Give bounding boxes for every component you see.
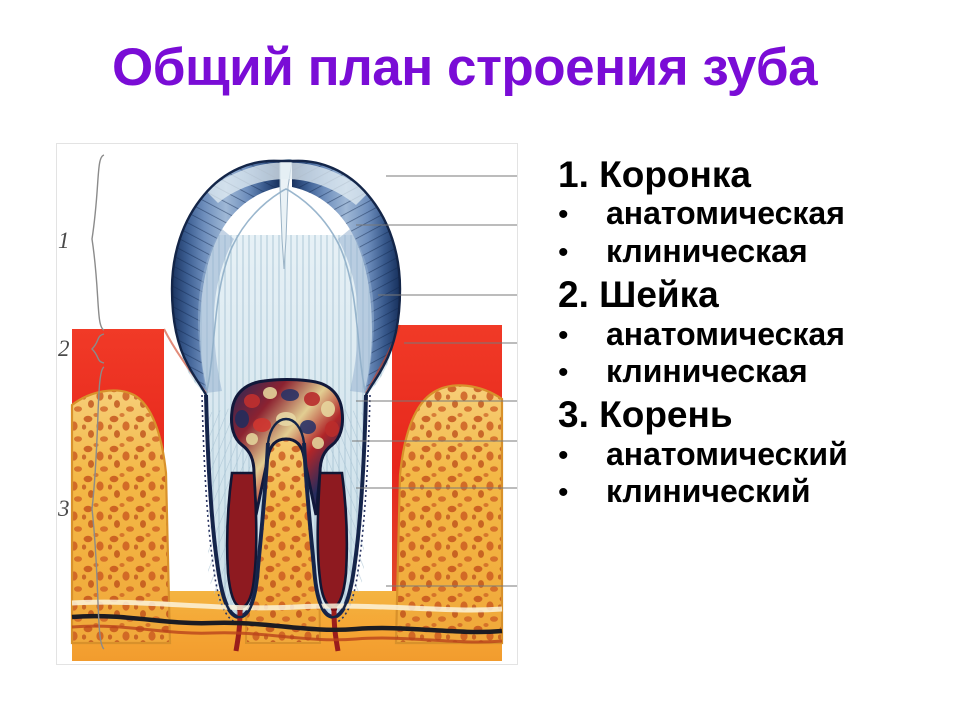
- bullet-icon: •: [552, 319, 606, 353]
- zone-label-3: 3: [58, 496, 70, 522]
- tooth-cross-section-svg: [56, 143, 518, 665]
- section-crown: 1. Коронка • анатомическая • клиническая: [552, 154, 956, 270]
- bullet-icon: •: [552, 439, 606, 473]
- page-title: Общий план строения зуба: [112, 40, 912, 96]
- list-item: • анатомическая: [552, 196, 956, 232]
- list-item-label: анатомическая: [606, 317, 845, 353]
- list-item-label: анатомическая: [606, 196, 845, 232]
- zone-label-2: 2: [58, 336, 70, 362]
- zone-bracket-1: [92, 155, 104, 330]
- section-heading-crown: 1. Коронка: [558, 154, 956, 195]
- tooth-anatomy-illustration: [56, 143, 518, 665]
- list-item: • анатомическая: [552, 317, 956, 353]
- section-heading-neck: 2. Шейка: [558, 274, 956, 315]
- list-item-label: клинический: [606, 474, 811, 510]
- bullet-icon: •: [552, 476, 606, 510]
- list-item-label: клиническая: [606, 234, 808, 270]
- list-item-label: клиническая: [606, 354, 808, 390]
- list-item: • клиническая: [552, 234, 956, 270]
- section-neck: 2. Шейка • анатомическая • клиническая: [552, 274, 956, 390]
- bullet-icon: •: [552, 198, 606, 232]
- slide-root: Общий план строения зуба: [0, 0, 960, 720]
- list-item: • клиническая: [552, 354, 956, 390]
- root-canal-left: [227, 473, 256, 607]
- bullet-icon: •: [552, 236, 606, 270]
- list-item: • анатомический: [552, 437, 956, 473]
- bullet-icon: •: [552, 356, 606, 390]
- list-item-label: анатомический: [606, 437, 848, 473]
- section-root: 3. Корень • анатомический • клинический: [552, 394, 956, 510]
- section-heading-root: 3. Корень: [558, 394, 956, 435]
- root-canal-right: [318, 473, 347, 607]
- list-item: • клинический: [552, 474, 956, 510]
- tooth-parts-list: 1. Коронка • анатомическая • клиническая…: [552, 154, 956, 512]
- zone-label-1: 1: [58, 228, 70, 254]
